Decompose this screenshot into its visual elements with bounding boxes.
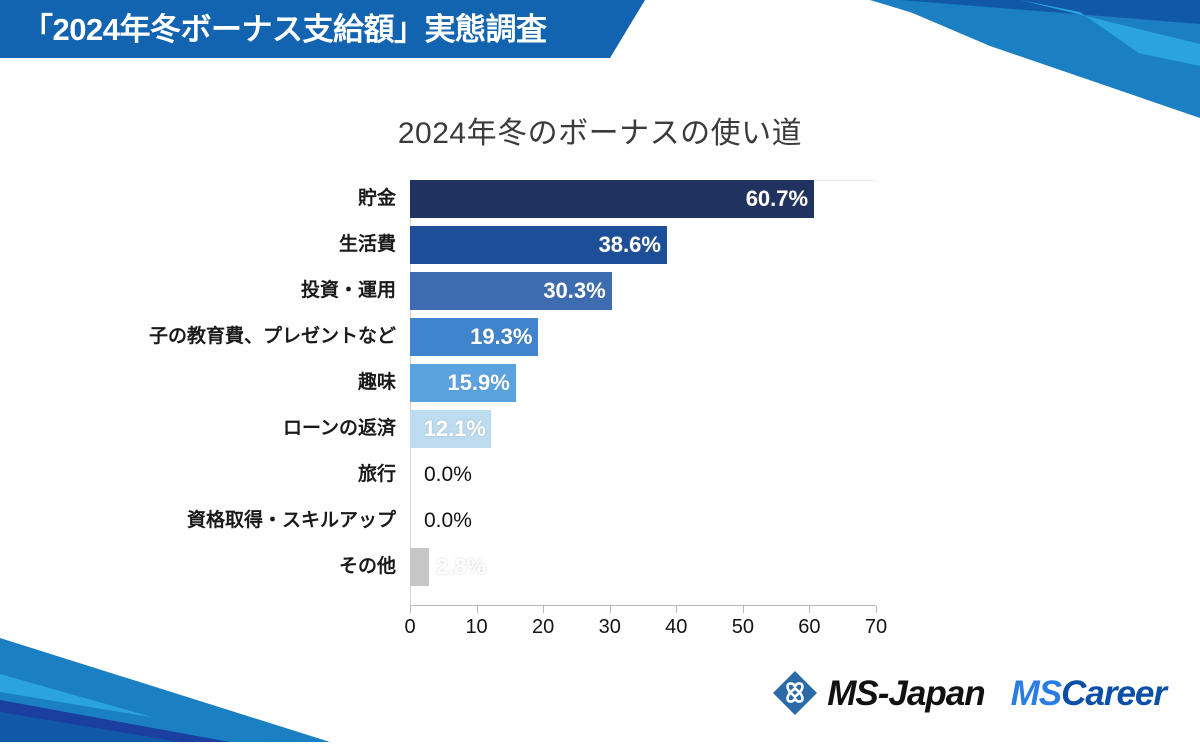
x-axis-tick (876, 606, 877, 613)
x-axis-tick (543, 606, 544, 613)
bar-row: 子の教育費、プレゼントなど19.3% (410, 318, 876, 356)
x-axis-tick (610, 606, 611, 613)
bar-row: ローンの返済12.1% (410, 410, 876, 448)
bar-value-label: 0.0% (424, 502, 472, 540)
bar-row: 投資・運用30.3% (410, 272, 876, 310)
x-axis-tick-label: 60 (798, 616, 820, 639)
bar-value-label: 30.3% (534, 272, 606, 310)
logo-ms-career-ms: MS (1011, 674, 1062, 713)
bar-row: 資格取得・スキルアップ0.0% (410, 502, 876, 540)
bar-value-label: 60.7% (736, 180, 808, 218)
x-axis-tick-label: 50 (732, 616, 754, 639)
bar-value-label: 12.1% (414, 410, 486, 448)
bar-row: 旅行0.0% (410, 456, 876, 494)
category-label: 趣味 (358, 364, 396, 402)
bar-row: 貯金60.7% (410, 180, 876, 218)
logo-ms-japan-text: MS-Japan (827, 676, 984, 711)
chart-title: 2024年冬のボーナスの使い道 (0, 108, 1200, 152)
category-label: 旅行 (358, 456, 396, 494)
x-axis-tick-label: 70 (865, 616, 887, 639)
bar-value-label: 19.3% (460, 318, 532, 356)
x-axis-tick (477, 606, 478, 613)
x-axis-tick (809, 606, 810, 613)
bar-value-label: 15.9% (438, 364, 510, 402)
x-axis-tick-label: 40 (665, 616, 687, 639)
angled-stripes-icon (0, 624, 330, 742)
logo-ms-japan[interactable]: MS-Japan (772, 670, 984, 716)
x-axis-line (410, 605, 876, 606)
bar-row: その他2.8% (410, 548, 876, 586)
x-axis-tick (676, 606, 677, 613)
bar-value-label: 38.6% (589, 226, 661, 264)
logo-ms-career-career: Career (1061, 674, 1166, 713)
plot-area: 貯金60.7%生活費38.6%投資・運用30.3%子の教育費、プレゼントなど19… (410, 180, 876, 605)
header-banner: 「2024年冬ボーナス支給額」実態調査 (0, 0, 645, 58)
x-axis-tick (743, 606, 744, 613)
x-axis-tick-label: 20 (532, 616, 554, 639)
category-label: 生活費 (339, 226, 396, 264)
page-title: 「2024年冬ボーナス支給額」実態調査 (0, 14, 546, 45)
category-label: 投資・運用 (301, 272, 396, 310)
x-axis-tick-label: 30 (599, 616, 621, 639)
category-label: その他 (339, 548, 396, 586)
bar-value-label: 0.0% (424, 456, 472, 494)
chart-container: 2024年冬のボーナスの使い道 貯金60.7%生活費38.6%投資・運用30.3… (0, 58, 1200, 638)
bar-row: 趣味15.9% (410, 364, 876, 402)
x-axis-tick (410, 606, 411, 613)
logo-ms-career[interactable]: MSCareer (1011, 676, 1166, 711)
bar-value-label: 2.8% (414, 548, 486, 586)
decoration-bottom-left (0, 624, 330, 742)
x-axis-tick-label: 10 (465, 616, 487, 639)
bar-row: 生活費38.6% (410, 226, 876, 264)
category-label: 資格取得・スキルアップ (187, 502, 396, 540)
category-label: 子の教育費、プレゼントなど (149, 318, 396, 356)
category-label: ローンの返済 (283, 410, 396, 448)
x-axis-tick-label: 0 (404, 616, 415, 639)
diamond-loop-icon (772, 670, 818, 716)
footer-logos: MS-Japan MSCareer (772, 670, 1166, 716)
category-label: 貯金 (358, 180, 396, 218)
